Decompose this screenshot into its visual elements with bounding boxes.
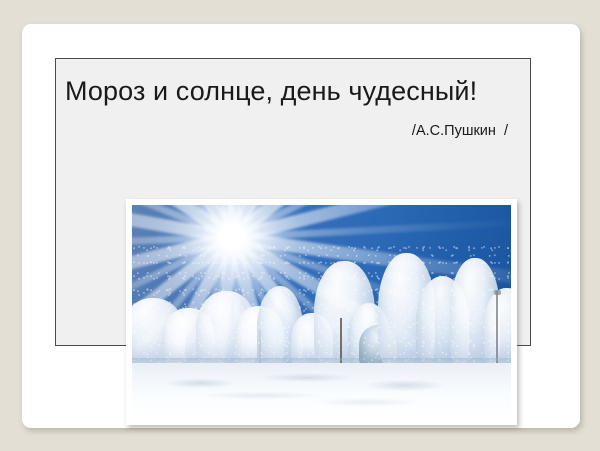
slide-title: Мороз и солнце, день чудесный!: [65, 75, 525, 107]
slide-card: Мороз и солнце, день чудесный! /А.С.Пушк…: [22, 24, 580, 428]
slide-canvas: Мороз и солнце, день чудесный! /А.С.Пушк…: [0, 0, 600, 451]
lamp-head-icon: [494, 290, 501, 295]
snow-shadows: [132, 363, 511, 419]
lamp-post: [496, 291, 498, 364]
frost-texture: [132, 244, 511, 368]
winter-landscape-photo: [132, 205, 511, 419]
photo-frame: [126, 199, 517, 425]
slide-attribution: /А.С.Пушкин /: [412, 122, 508, 140]
